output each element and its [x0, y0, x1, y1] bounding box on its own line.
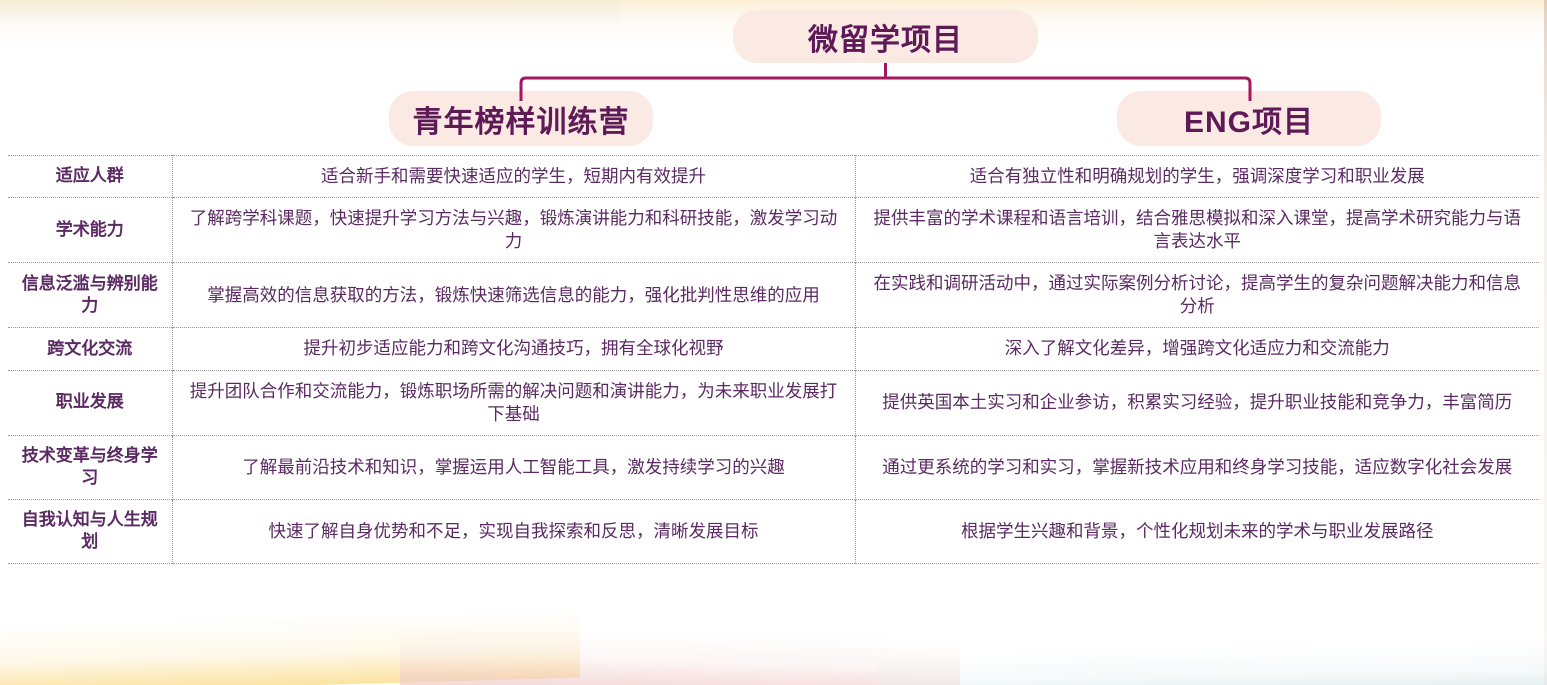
table-row: 适应人群适合新手和需要快速适应的学生，短期内有效提升适合有独立性和明确规划的学生…: [8, 156, 1539, 198]
cell-eng-program: 提供英国本土实习和企业参访，积累实习经验，提升职业技能和竞争力，丰富简历: [855, 370, 1539, 435]
root-node-label: 微留学项目: [808, 15, 963, 59]
table-row: 职业发展提升团队合作和交流能力，锻炼职场所需的解决问题和演讲能力，为未来职业发展…: [8, 370, 1539, 435]
cell-eng-program: 适合有独立性和明确规划的学生，强调深度学习和职业发展: [855, 156, 1539, 198]
row-label: 跨文化交流: [8, 328, 172, 370]
mindmap-comparison-page: 微留学项目 青年榜样训练营 ENG项目 适应人群适合新手和需要快速适应的学生，短…: [0, 0, 1547, 685]
row-label: 职业发展: [8, 370, 172, 435]
branch-node-eng-program[interactable]: ENG项目: [1117, 91, 1381, 146]
table-row: 自我认知与人生规划快速了解自身优势和不足，实现自我探索和反思，清晰发展目标根据学…: [8, 499, 1539, 563]
cell-youth-role-model-camp: 了解跨学科课题，快速提升学习方法与兴趣，锻炼演讲能力和科研技能，激发学习动力: [172, 198, 855, 263]
row-label: 适应人群: [8, 156, 172, 198]
cell-eng-program: 在实践和调研活动中，通过实际案例分析讨论，提高学生的复杂问题解决能力和信息分析: [855, 263, 1539, 328]
table-row: 跨文化交流提升初步适应能力和跨文化沟通技巧，拥有全球化视野深入了解文化差异，增强…: [8, 328, 1539, 370]
root-node-micro-study-abroad[interactable]: 微留学项目: [733, 10, 1038, 63]
row-label: 自我认知与人生规划: [8, 499, 172, 563]
comparison-table: 适应人群适合新手和需要快速适应的学生，短期内有效提升适合有独立性和明确规划的学生…: [8, 155, 1539, 564]
row-label: 学术能力: [8, 198, 172, 263]
table-row: 技术变革与终身学习了解最前沿技术和知识，掌握运用人工智能工具，激发持续学习的兴趣…: [8, 435, 1539, 499]
cell-eng-program: 深入了解文化差异，增强跨文化适应力和交流能力: [855, 328, 1539, 370]
cell-youth-role-model-camp: 了解最前沿技术和知识，掌握运用人工智能工具，激发持续学习的兴趣: [172, 435, 855, 499]
comparison-table-body: 适应人群适合新手和需要快速适应的学生，短期内有效提升适合有独立性和明确规划的学生…: [8, 156, 1539, 564]
branch-right-label: ENG项目: [1184, 97, 1314, 141]
row-label: 信息泛滥与辨别能力: [8, 263, 172, 328]
cell-eng-program: 提供丰富的学术课程和语言培训，结合雅思模拟和深入课堂，提高学术研究能力与语言表达…: [855, 198, 1539, 263]
cell-youth-role-model-camp: 掌握高效的信息获取的方法，锻炼快速筛选信息的能力，强化批判性思维的应用: [172, 263, 855, 328]
cell-youth-role-model-camp: 适合新手和需要快速适应的学生，短期内有效提升: [172, 156, 855, 198]
branch-node-youth-role-model-camp[interactable]: 青年榜样训练营: [389, 91, 653, 146]
table-row: 学术能力了解跨学科课题，快速提升学习方法与兴趣，锻炼演讲能力和科研技能，激发学习…: [8, 198, 1539, 263]
cell-youth-role-model-camp: 提升团队合作和交流能力，锻炼职场所需的解决问题和演讲能力，为未来职业发展打下基础: [172, 370, 855, 435]
cell-youth-role-model-camp: 快速了解自身优势和不足，实现自我探索和反思，清晰发展目标: [172, 499, 855, 563]
cell-eng-program: 通过更系统的学习和实习，掌握新技术应用和终身学习技能，适应数字化社会发展: [855, 435, 1539, 499]
cell-youth-role-model-camp: 提升初步适应能力和跨文化沟通技巧，拥有全球化视野: [172, 328, 855, 370]
cell-eng-program: 根据学生兴趣和背景，个性化规划未来的学术与职业发展路径: [855, 499, 1539, 563]
row-label: 技术变革与终身学习: [8, 435, 172, 499]
branch-left-label: 青年榜样训练营: [413, 97, 630, 141]
table-row: 信息泛滥与辨别能力掌握高效的信息获取的方法，锻炼快速筛选信息的能力，强化批判性思…: [8, 263, 1539, 328]
